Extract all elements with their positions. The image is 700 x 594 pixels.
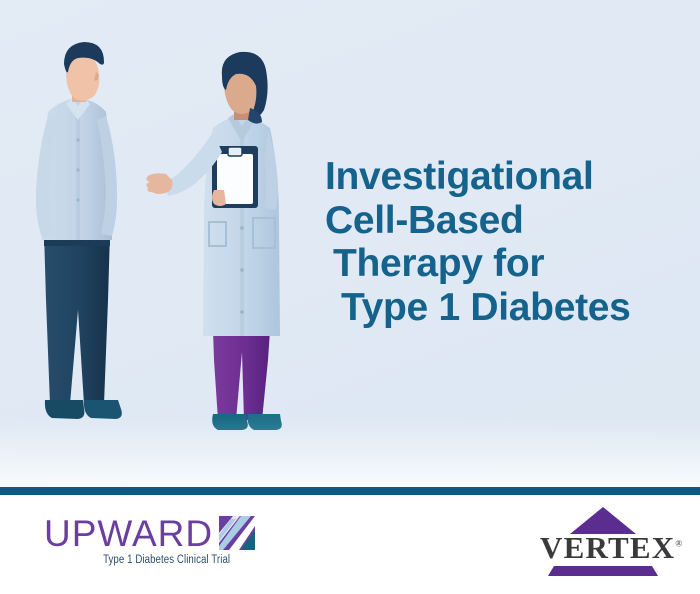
footer-logo-bar: UPWARD Type 1 Diabetes Clinical Trial VE… xyxy=(0,495,700,594)
advertisement-banner: Investigational Cell-Based Therapy for T… xyxy=(0,0,700,594)
vertex-trademark-symbol: ® xyxy=(675,539,682,549)
hero-illustration-panel: Investigational Cell-Based Therapy for T… xyxy=(0,0,700,487)
patient-shirt-button xyxy=(76,198,79,201)
patient-shirt-button xyxy=(76,168,79,171)
figure-clinician xyxy=(146,52,281,430)
figure-patient xyxy=(36,42,122,419)
patient-trousers xyxy=(44,232,110,404)
clinician-hand-holding xyxy=(212,190,226,206)
clinician-coat-button xyxy=(240,310,244,314)
upward-logo[interactable]: UPWARD Type 1 Diabetes Clinical Trial xyxy=(44,513,259,566)
vertex-logo[interactable]: VERTEX® xyxy=(540,507,665,576)
divider-bar xyxy=(0,487,700,495)
patient-shirt-button xyxy=(76,138,79,141)
vertex-base-bar-icon xyxy=(548,566,658,576)
headline-line-2: Cell-Based xyxy=(325,199,670,243)
vertex-wordmark-text: VERTEX xyxy=(540,530,675,565)
vertex-wordmark: VERTEX® xyxy=(540,532,665,565)
patient-shirt-placket xyxy=(76,108,80,240)
floor-shadow xyxy=(0,417,700,487)
headline-line-1: Investigational xyxy=(325,155,670,199)
clinician-coat-button xyxy=(240,268,244,272)
headline-line-3: Therapy for xyxy=(325,242,670,286)
clinician-coat-button xyxy=(240,226,244,230)
upward-tagline: Type 1 Diabetes Clinical Trial xyxy=(61,554,242,566)
clinician-hand xyxy=(146,173,172,194)
upward-wordmark: UPWARD xyxy=(44,515,213,552)
headline-line-4: Type 1 Diabetes xyxy=(325,286,670,330)
page-title: Investigational Cell-Based Therapy for T… xyxy=(325,155,670,330)
upward-mark-icon xyxy=(217,513,257,553)
upward-logo-row: UPWARD xyxy=(44,513,259,553)
clipboard-clip xyxy=(228,147,242,156)
